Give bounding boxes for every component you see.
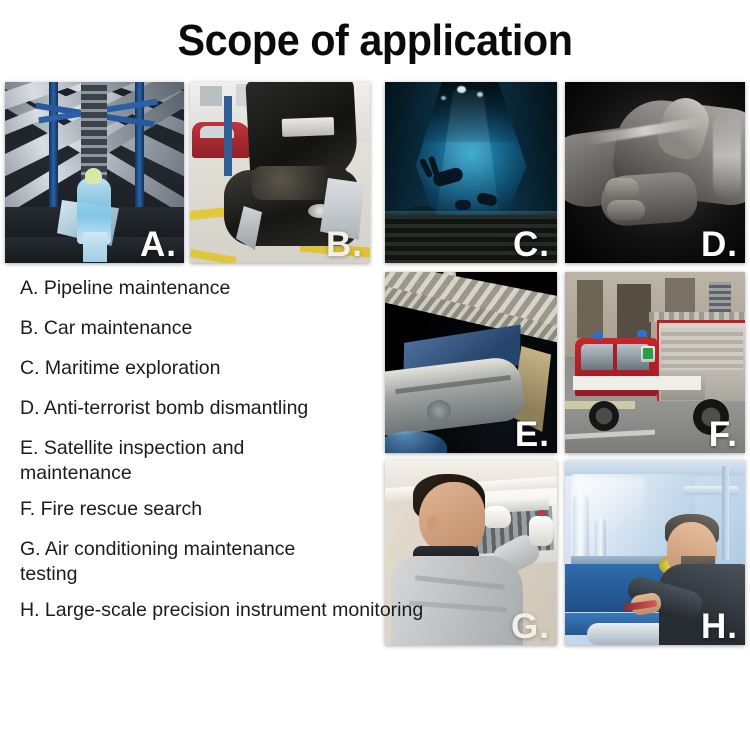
image-tile-fire-rescue: F.: [565, 272, 745, 453]
page-title: Scope of application: [23, 16, 728, 66]
front-wheel: [589, 401, 619, 431]
lens-glare: [575, 478, 645, 558]
finger: [607, 200, 645, 220]
image-tile-precision-instrument-monitoring: H.: [565, 460, 745, 645]
image-tile-maritime-exploration: C.: [385, 82, 557, 263]
surface-light-sparkle: [441, 96, 446, 100]
product-feature-slide: Scope of application A.: [0, 0, 750, 750]
tile-letter-label: G.: [511, 609, 550, 644]
work-glove: [529, 516, 553, 546]
building-opening: [577, 280, 603, 338]
emergency-beacon: [593, 332, 603, 339]
application-list: A. Pipeline maintenance B. Car maintenan…: [20, 276, 520, 623]
tile-letter-label: A.: [140, 227, 177, 262]
rim-light: [713, 112, 741, 198]
hood-insulation-plate: [282, 117, 335, 137]
tile-letter-label: E.: [515, 417, 550, 452]
tile-letter-label: H.: [701, 609, 738, 644]
surface-light-sparkle: [457, 86, 466, 93]
image-tile-bomb-dismantling: D.: [565, 82, 745, 263]
building-window: [709, 282, 731, 312]
cab-window-pillar: [613, 344, 617, 370]
finger: [605, 178, 639, 200]
tile-letter-label: B.: [326, 227, 363, 262]
garage-pillar: [224, 96, 232, 176]
worker-legs: [83, 232, 107, 262]
list-item-d: D. Anti-terrorist bomb dismantling: [20, 396, 520, 421]
emergency-beacon: [637, 330, 647, 337]
tile-letter-label: F.: [709, 417, 738, 452]
list-item-h: H. Large-scale precision instrument moni…: [20, 598, 520, 623]
garage-window: [200, 86, 222, 106]
list-item-a: A. Pipeline maintenance: [20, 276, 520, 301]
machine-frame: [722, 466, 729, 560]
list-item-b: B. Car maintenance: [20, 316, 520, 341]
image-tile-pipeline-maintenance: A.: [5, 82, 184, 263]
surface-light-sparkle: [477, 92, 483, 97]
door-emblem-detail: [643, 348, 653, 359]
worker-helmet: [85, 168, 102, 184]
white-stripe: [573, 376, 701, 390]
diver-silhouette: [455, 200, 471, 210]
tile-letter-label: C.: [513, 227, 550, 262]
equipment-shutter: [661, 328, 743, 370]
list-item-e: E. Satellite inspection and maintenance: [20, 436, 520, 486]
machine-pipe: [683, 486, 739, 495]
tile-letter-label: D.: [701, 227, 738, 262]
list-item-g: G. Air conditioning maintenance testing: [20, 537, 520, 587]
list-item-f: F. Fire rescue search: [20, 497, 520, 522]
image-tile-car-maintenance: B.: [190, 82, 370, 263]
list-item-c: C. Maritime exploration: [20, 356, 520, 381]
